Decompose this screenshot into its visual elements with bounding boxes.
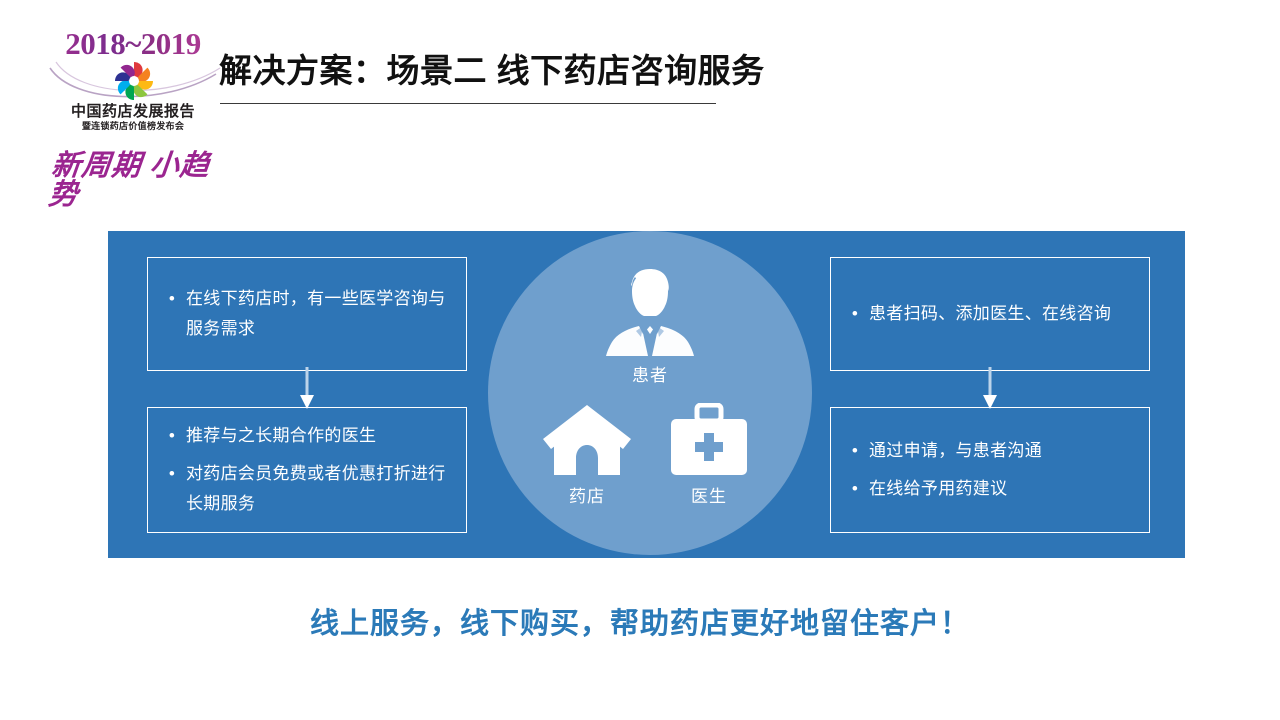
center-node-patient-label: 患者 [578, 365, 722, 387]
center-node-patient: 患者 [578, 266, 722, 387]
bullet-item: • 对药店会员免费或者优惠打折进行长期服务 [158, 459, 452, 519]
bullet-item: • 在线给予用药建议 [841, 474, 1135, 504]
bullet-item: • 通过申请，与患者沟通 [841, 436, 1135, 466]
house-icon [541, 403, 633, 477]
bullet-item: • 推荐与之长期合作的医生 [158, 421, 452, 451]
center-node-doctor-label: 医生 [648, 486, 770, 508]
bullet-text: 对药店会员免费或者优惠打折进行长期服务 [186, 459, 452, 519]
logo-year-range: 2018~2019 [58, 28, 208, 59]
businessman-icon [602, 266, 698, 356]
bullet-text: 通过申请，与患者沟通 [869, 436, 1135, 466]
bullet-marker: • [841, 436, 869, 466]
bullet-marker: • [158, 421, 186, 451]
logo-org-subtitle: 暨连锁药店价值榜发布会 [58, 122, 208, 131]
bullet-marker: • [841, 299, 869, 329]
bullet-text: 在线给予用药建议 [869, 474, 1135, 504]
info-box-right-2[interactable]: • 通过申请，与患者沟通 • 在线给予用药建议 [830, 407, 1150, 533]
title-divider [220, 103, 716, 104]
center-node-doctor: 医生 [648, 403, 770, 508]
logo-slogan: 新周期 小趋势 [47, 152, 223, 210]
bullet-marker: • [841, 474, 869, 504]
medical-bag-icon [670, 403, 748, 477]
pinwheel-icon [113, 60, 155, 102]
bullet-item: • 患者扫码、添加医生、在线咨询 [841, 299, 1135, 329]
bullet-marker: • [158, 459, 186, 489]
conference-logo: 2018~2019 中国药店发展报告 暨连锁药店价值榜发布会 [58, 28, 208, 138]
bullet-item: • 在线下药店时，有一些医学咨询与服务需求 [158, 284, 452, 344]
logo-org-name: 中国药店发展报告 [58, 104, 208, 119]
page-title: 解决方案：场景二 线下药店咨询服务 [219, 44, 765, 92]
center-node-pharmacy: 药店 [526, 403, 648, 508]
info-box-left-1[interactable]: • 在线下药店时，有一些医学咨询与服务需求 [147, 257, 467, 371]
info-box-left-2[interactable]: • 推荐与之长期合作的医生 • 对药店会员免费或者优惠打折进行长期服务 [147, 407, 467, 533]
arrow-down-icon-left [300, 367, 314, 409]
bullet-marker: • [158, 284, 186, 314]
info-box-right-1[interactable]: • 患者扫码、添加医生、在线咨询 [830, 257, 1150, 371]
summary-caption: 线上服务，线下购买，帮助药店更好地留住客户！ [0, 600, 1280, 642]
arrow-down-icon-right [983, 367, 997, 409]
diagram-panel: 患者 药店 医生 • 在线下药店时，有一些医学咨询与服务需求 • 推荐与之长 [108, 231, 1185, 558]
bullet-text: 患者扫码、添加医生、在线咨询 [869, 299, 1135, 329]
bullet-text: 在线下药店时，有一些医学咨询与服务需求 [186, 284, 452, 344]
center-node-pharmacy-label: 药店 [526, 486, 648, 508]
bullet-text: 推荐与之长期合作的医生 [186, 421, 452, 451]
